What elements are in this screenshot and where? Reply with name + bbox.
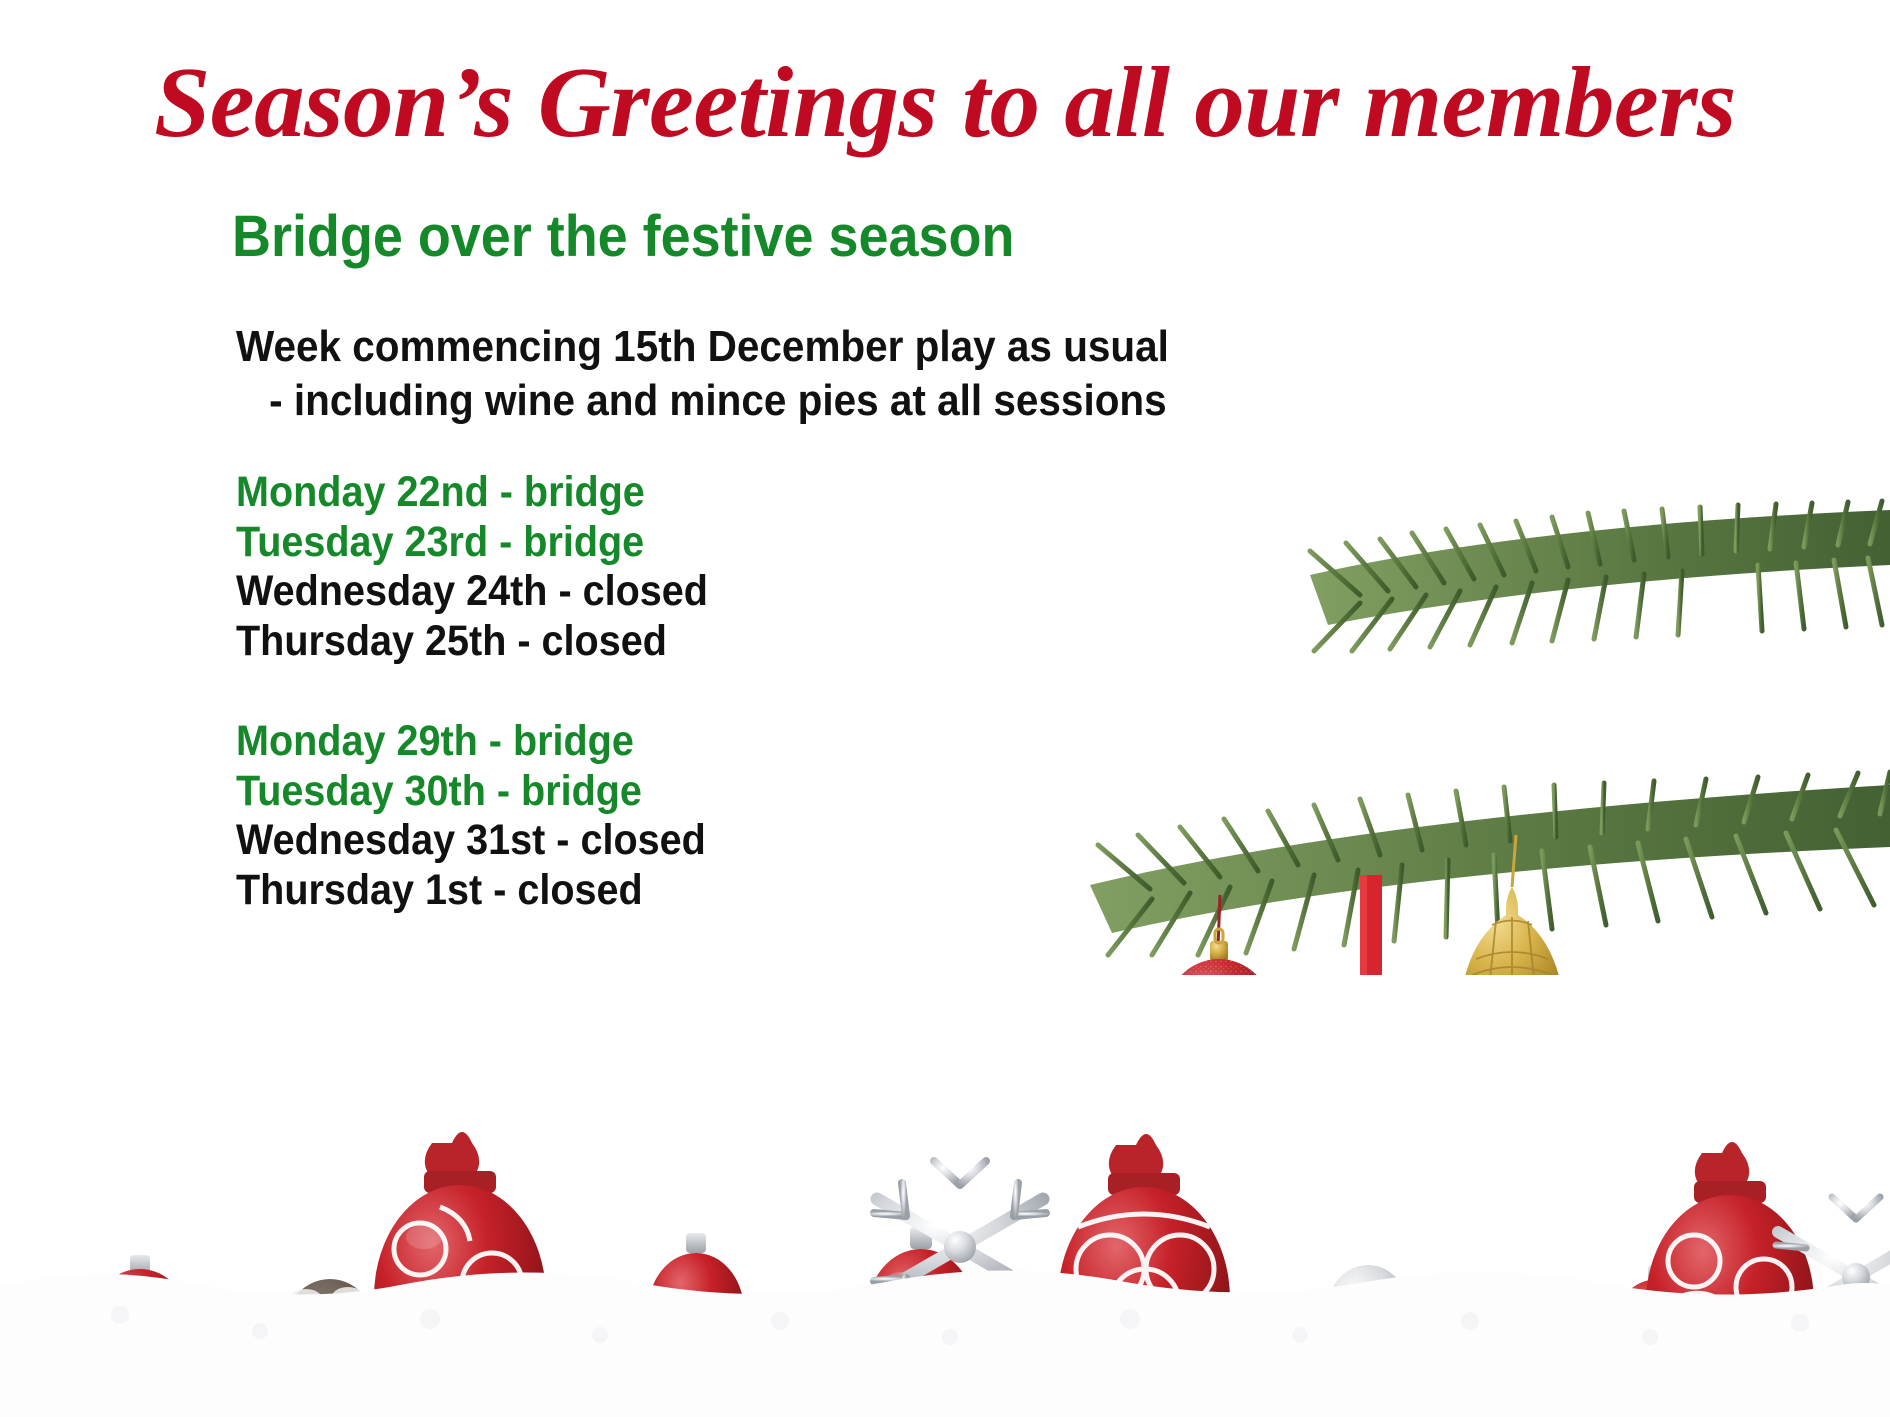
red-glitter-bauble xyxy=(1167,895,1271,975)
schedule-row: Wednesday 31st - closed xyxy=(236,816,706,866)
snow-bank xyxy=(0,1270,1890,1417)
schedule-row: Thursday 25th - closed xyxy=(236,617,708,667)
schedule-row: Monday 29th - bridge xyxy=(236,717,706,767)
schedule-row: Thursday 1st - closed xyxy=(236,866,706,916)
schedule-row: Tuesday 30th - bridge xyxy=(236,767,706,817)
schedule-block-1: Monday 22nd - bridge Tuesday 23rd - brid… xyxy=(236,468,708,667)
schedule-row: Monday 22nd - bridge xyxy=(236,468,708,518)
schedule-row: Tuesday 23rd - bridge xyxy=(236,518,708,568)
christmas-tree-branch xyxy=(1060,455,1890,975)
subtitle: Bridge over the festive season xyxy=(232,205,1014,269)
fir-bough-upper xyxy=(1310,501,1890,651)
festive-poster: Season’s Greetings to all our members Br… xyxy=(0,0,1890,1417)
red-ribbon-star xyxy=(1295,875,1447,975)
fir-bough-lower xyxy=(1090,772,1890,955)
schedule-row: Wednesday 24th - closed xyxy=(236,567,708,617)
schedule-block-2: Monday 29th - bridge Tuesday 30th - brid… xyxy=(236,717,706,916)
notice-line-2: - including wine and mince pies at all s… xyxy=(236,374,1169,428)
notice-paragraph: Week commencing 15th December play as us… xyxy=(236,320,1169,427)
notice-line-1: Week commencing 15th December play as us… xyxy=(236,322,1169,371)
gold-filigree-bell xyxy=(1456,835,1568,975)
page-title: Season’s Greetings to all our members xyxy=(0,48,1890,157)
bottom-ornament-border xyxy=(0,1087,1890,1417)
